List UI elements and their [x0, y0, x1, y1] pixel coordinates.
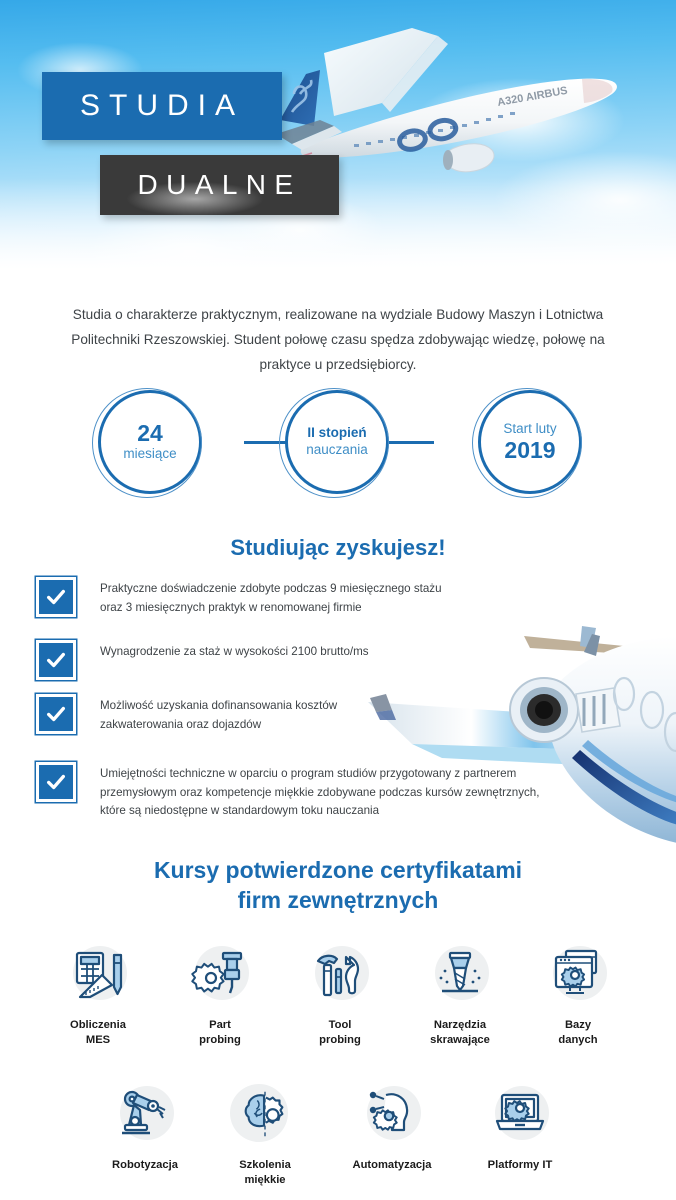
- course-label: Obliczenia: [38, 1018, 158, 1033]
- course-label: probing: [280, 1033, 400, 1048]
- course-robotyzacja[interactable]: Robotyzacja: [85, 1078, 205, 1173]
- courses-heading: Kursy potwierdzone certyfikatami firm ze…: [0, 855, 676, 915]
- badge-degree: II stopień nauczania: [285, 390, 389, 494]
- badge-duration-label: miesiące: [123, 446, 176, 463]
- benefit-item-3: Możliwość uzyskania dofinansowania koszt…: [36, 694, 350, 734]
- drill-bit-icon: [423, 938, 497, 1012]
- laptop-gear-icon: [483, 1078, 557, 1152]
- brain-gear-icon: [228, 1078, 302, 1152]
- robot-arm-icon: [108, 1078, 182, 1152]
- benefit-text-1: Praktyczne doświadczenie zdobyte podczas…: [100, 577, 448, 617]
- course-label: Part: [160, 1018, 280, 1033]
- courses-heading-line2: firm zewnętrznych: [0, 885, 676, 915]
- course-narzedzia-skrawajace[interactable]: Narzędzia skrawające: [400, 938, 520, 1048]
- check-icon: [36, 577, 76, 617]
- course-label: skrawające: [400, 1033, 520, 1048]
- course-label: Automatyzacja: [332, 1158, 452, 1173]
- key-facts-row: 24 miesiące II stopień nauczania Start l…: [0, 388, 676, 498]
- badge-degree-value: II stopień: [307, 425, 366, 442]
- course-obliczenia-mes[interactable]: Obliczenia MES: [38, 938, 158, 1048]
- course-bazy-danych[interactable]: Bazy danych: [518, 938, 638, 1048]
- head-gear-network-icon: [355, 1078, 429, 1152]
- benefit-text-3: Możliwość uzyskania dofinansowania koszt…: [100, 694, 350, 734]
- course-label: Tool: [280, 1018, 400, 1033]
- hero-title-dualne-text: DUALNE: [100, 169, 339, 201]
- benefit-item-4: Umiejętności techniczne w oparciu o prog…: [36, 762, 556, 821]
- benefit-text-2: Wynagrodzenie za staż w wysokości 2100 b…: [100, 640, 430, 662]
- course-automatyzacja[interactable]: Automatyzacja: [332, 1078, 452, 1173]
- hero-title-dualne: DUALNE: [100, 155, 339, 215]
- benefit-text-4: Umiejętności techniczne w oparciu o prog…: [100, 762, 556, 821]
- course-label: danych: [518, 1033, 638, 1048]
- course-label: Narzędzia: [400, 1018, 520, 1033]
- check-icon: [36, 694, 76, 734]
- hammer-wrench-screwdriver-icon: [303, 938, 377, 1012]
- benefits-heading: Studiując zyskujesz!: [0, 535, 676, 561]
- badge-duration-value: 24: [137, 421, 163, 445]
- intro-paragraph: Studia o charakterze praktycznym, realiz…: [58, 302, 618, 377]
- check-icon: [36, 640, 76, 680]
- course-label: Robotyzacja: [85, 1158, 205, 1173]
- check-icon: [36, 762, 76, 802]
- hero-title-studia-text: STUDIA: [42, 89, 282, 123]
- benefit-item-1: Praktyczne doświadczenie zdobyte podczas…: [36, 577, 448, 617]
- course-label: MES: [38, 1033, 158, 1048]
- course-platformy-it[interactable]: Platformy IT: [460, 1078, 580, 1173]
- courses-heading-line1: Kursy potwierdzone certyfikatami: [0, 855, 676, 885]
- badge-start-label: 2019: [504, 438, 555, 462]
- course-label: probing: [160, 1033, 280, 1048]
- badge-duration: 24 miesiące: [98, 390, 202, 494]
- course-label: miękkie: [205, 1173, 325, 1188]
- hero-banner: A320 AIRBUS STUDIA D: [0, 0, 676, 268]
- course-szkolenia-miekkie[interactable]: Szkolenia miękkie: [205, 1078, 325, 1188]
- gear-probe-icon: [183, 938, 257, 1012]
- course-part-probing[interactable]: Part probing: [160, 938, 280, 1048]
- course-label: Bazy: [518, 1018, 638, 1033]
- calculator-ruler-pencil-icon: [61, 938, 135, 1012]
- badge-start-value: Start luty: [503, 421, 556, 438]
- course-label: Platformy IT: [460, 1158, 580, 1173]
- course-tool-probing[interactable]: Tool probing: [280, 938, 400, 1048]
- monitor-gear-icon: [541, 938, 615, 1012]
- benefit-item-2: Wynagrodzenie za staż w wysokości 2100 b…: [36, 640, 430, 680]
- badge-start: Start luty 2019: [478, 390, 582, 494]
- course-label: Szkolenia: [205, 1158, 325, 1173]
- hero-title-studia: STUDIA: [42, 72, 282, 140]
- badge-degree-label: nauczania: [306, 442, 368, 459]
